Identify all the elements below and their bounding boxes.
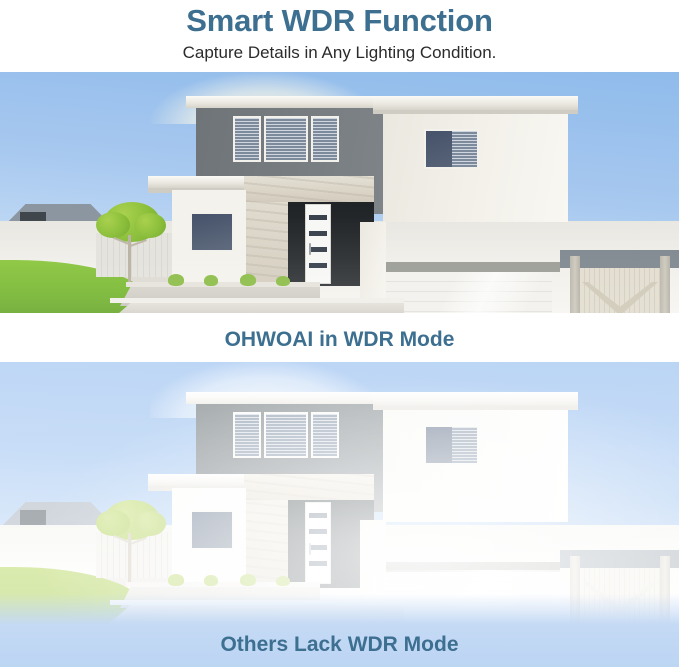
planter-shrub xyxy=(204,575,218,586)
house-scene-wdr xyxy=(0,72,679,313)
caption-band-wdr: OHWOAI in WDR Mode xyxy=(0,313,679,362)
photo-panel-nowdr xyxy=(0,362,679,625)
gate-post-right xyxy=(660,256,670,313)
door-handle xyxy=(309,543,311,555)
tree-canopy-3 xyxy=(134,213,166,238)
caption-band-nowdr: Others Lack WDR Mode xyxy=(0,625,679,667)
page-title: Smart WDR Function xyxy=(0,2,679,40)
window-blinds xyxy=(313,118,337,160)
door-slat xyxy=(309,263,326,268)
window-blinds xyxy=(313,414,337,456)
window-blinds xyxy=(452,427,478,463)
door-slat xyxy=(309,529,326,534)
planter-shrub xyxy=(168,274,184,286)
door-slat xyxy=(309,215,326,220)
upper-window-1 xyxy=(233,412,261,458)
roof-soffit-right xyxy=(373,406,578,410)
gate-post-left xyxy=(570,556,580,625)
door-slat xyxy=(309,561,326,566)
planter-shrub xyxy=(240,574,256,586)
window-blinds xyxy=(235,118,259,160)
door-slat xyxy=(309,247,326,252)
planter-shrub xyxy=(168,574,184,586)
front-door xyxy=(305,204,331,284)
planter-shrub xyxy=(276,276,290,286)
gate-panel xyxy=(580,568,660,625)
retaining-wall xyxy=(104,602,404,625)
left-wing-window xyxy=(190,212,234,252)
caption-wdr: OHWOAI in WDR Mode xyxy=(0,313,679,350)
upper-window-2 xyxy=(264,116,308,162)
planter-shrub xyxy=(204,275,218,286)
door-slat xyxy=(309,513,326,518)
window-blinds xyxy=(266,118,306,160)
front-door xyxy=(305,502,331,584)
garage-header xyxy=(378,562,560,572)
planter-shrub xyxy=(240,274,256,286)
garage-header xyxy=(378,262,560,272)
door-slat xyxy=(309,231,326,236)
garage-door xyxy=(386,572,552,625)
door-slat xyxy=(309,545,326,550)
door-handle xyxy=(309,243,311,255)
photo-panel-wdr xyxy=(0,72,679,313)
page-subtitle: Capture Details in Any Lighting Conditio… xyxy=(0,41,679,65)
window-blinds xyxy=(452,131,478,167)
house-scene-nowdr xyxy=(0,362,679,625)
upper-window-3 xyxy=(311,116,339,162)
roof-slab-right xyxy=(373,392,578,406)
garage-door xyxy=(386,272,552,313)
window-blinds xyxy=(266,414,306,456)
tree-canopy-3 xyxy=(134,511,166,536)
stone-cladding-header xyxy=(244,474,374,500)
gate-post-right xyxy=(660,556,670,625)
roof-soffit-right xyxy=(373,110,578,114)
upper-window-1 xyxy=(233,116,261,162)
upper-window-3 xyxy=(311,412,339,458)
tree-canopy-2 xyxy=(96,510,130,536)
roof-slab-right xyxy=(373,96,578,110)
planter-shrub xyxy=(276,576,290,586)
left-wing-window xyxy=(190,510,234,550)
caption-nowdr: Others Lack WDR Mode xyxy=(0,625,679,655)
stone-cladding-header xyxy=(244,176,374,202)
upper-window-2 xyxy=(264,412,308,458)
retaining-wall-cap xyxy=(110,298,404,303)
planter-rim xyxy=(126,582,320,587)
gate-post-left xyxy=(570,256,580,313)
tree-canopy-2 xyxy=(96,212,130,238)
header: Smart WDR Function Capture Details in An… xyxy=(0,0,679,65)
window-blinds xyxy=(235,414,259,456)
planter-rim xyxy=(126,282,320,287)
right-wing-window xyxy=(424,129,479,169)
right-wing-window xyxy=(424,425,479,465)
retaining-wall-cap xyxy=(110,600,404,605)
